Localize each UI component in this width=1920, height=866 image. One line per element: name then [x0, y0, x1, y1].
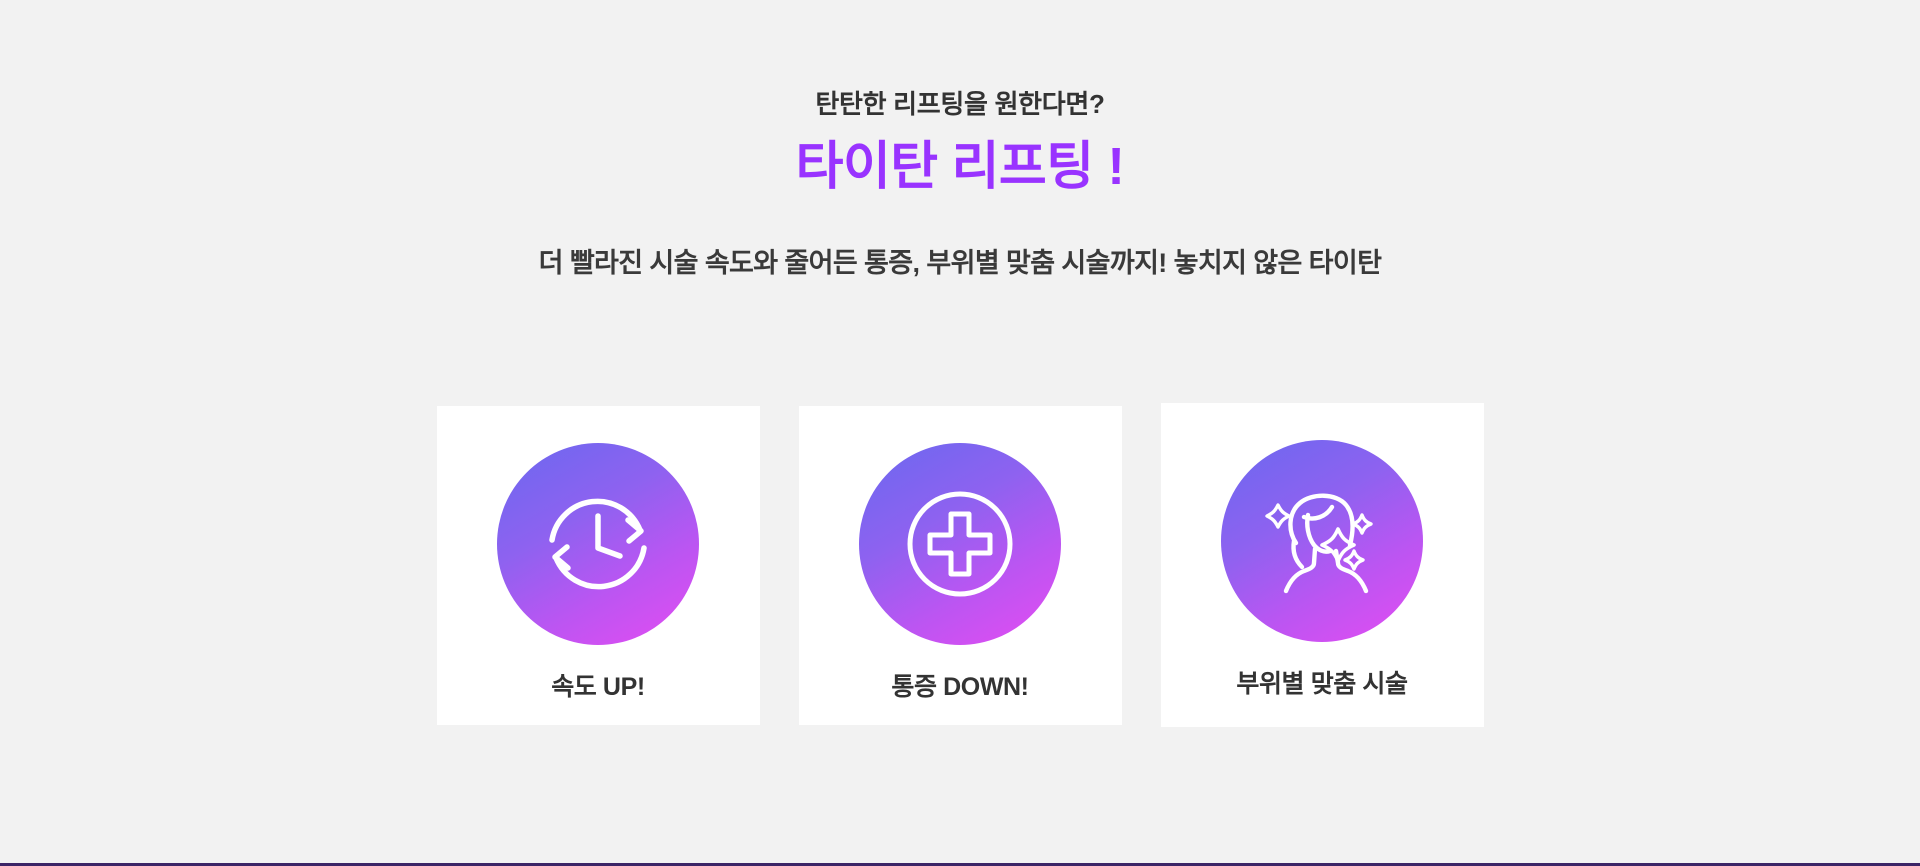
icon-badge — [859, 443, 1061, 645]
card-label: 속도 UP! — [551, 671, 645, 704]
clock-refresh-icon — [532, 478, 664, 610]
subtitle-text: 더 빨라진 시술 속도와 줄어든 통증, 부위별 맞춤 시술까지! 놓치지 않은… — [0, 246, 1920, 281]
header-block: 탄탄한 리프팅을 원한다면? 타이탄 리프팅 ! 더 빨라진 시술 속도와 줄어… — [0, 0, 1920, 281]
feature-card-pain[interactable]: 통증 DOWN! — [799, 406, 1122, 725]
feature-card-list: 속도 UP! 통증 DOWN! — [0, 406, 1920, 727]
card-label: 부위별 맞춤 시술 — [1236, 668, 1407, 701]
page-title: 타이탄 리프팅 ! — [0, 137, 1920, 198]
promo-page: 탄탄한 리프팅을 원한다면? 타이탄 리프팅 ! 더 빨라진 시술 속도와 줄어… — [0, 0, 1920, 866]
icon-badge — [497, 443, 699, 645]
feature-card-speed[interactable]: 속도 UP! — [437, 406, 760, 725]
icon-badge — [1221, 440, 1423, 642]
eyebrow-text: 탄탄한 리프팅을 원한다면? — [0, 88, 1920, 121]
card-label: 통증 DOWN! — [891, 671, 1028, 704]
woman-face-sparkle-icon — [1252, 471, 1392, 611]
medical-cross-circle-icon — [894, 478, 1026, 610]
feature-card-area[interactable]: 부위별 맞춤 시술 — [1161, 403, 1484, 727]
